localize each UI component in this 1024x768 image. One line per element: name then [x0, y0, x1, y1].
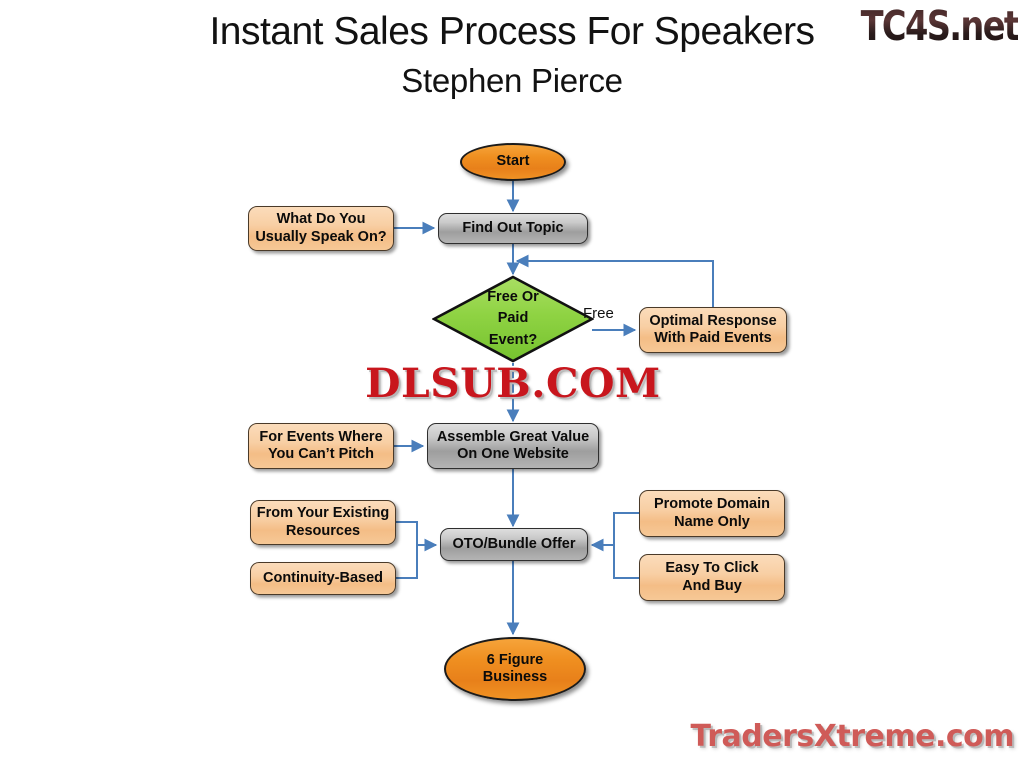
node-decision-line2: Paid — [498, 310, 529, 326]
node-promote-line2: Name Only — [674, 514, 750, 530]
node-optimal-response-with-paid-events[interactable]: Optimal Response With Paid Events — [639, 307, 787, 353]
node-free-or-paid-event[interactable]: Free Or Paid Event? — [432, 275, 594, 363]
node-what-do-you-usually-speak-on[interactable]: What Do You Usually Speak On? — [248, 206, 394, 251]
watermark-tradersxtreme: TradersXtreme.com — [691, 719, 1014, 754]
node-easy-line1: Easy To Click — [665, 560, 758, 576]
slide-canvas: Instant Sales Process For Speakers TC4S.… — [0, 0, 1024, 768]
watermark-dlsub: DLSUB.COM — [365, 360, 661, 407]
node-optimal-line2: With Paid Events — [654, 330, 772, 346]
node-easy-to-click-and-buy[interactable]: Easy To Click And Buy — [639, 554, 785, 601]
node-optimal-line1: Optimal Response — [649, 313, 776, 329]
node-start[interactable]: Start — [460, 143, 566, 181]
node-continuity-label: Continuity-Based — [251, 570, 395, 587]
page-subtitle: Stephen Pierce — [0, 62, 1024, 100]
watermark-tc4s: TC4S.net — [860, 2, 1018, 50]
node-for-events-where-you-cant-pitch[interactable]: For Events Where You Can’t Pitch — [248, 423, 394, 469]
edge-left-bracket — [396, 522, 417, 578]
node-oto-bundle-offer[interactable]: OTO/Bundle Offer — [440, 528, 588, 561]
node-find-topic-label: Find Out Topic — [439, 220, 587, 237]
node-existing-line1: From Your Existing — [257, 505, 389, 521]
node-sixfigure-line1: 6 Figure — [487, 652, 543, 668]
node-assemble-line1: Assemble Great Value — [437, 429, 589, 445]
node-sixfigure-line2: Business — [483, 669, 547, 685]
node-decision-line1: Free Or — [487, 289, 539, 305]
node-forevents-line2: You Can’t Pitch — [268, 446, 374, 462]
node-start-label: Start — [462, 153, 564, 170]
node-easy-line2: And Buy — [682, 578, 742, 594]
node-promote-line1: Promote Domain — [654, 496, 770, 512]
node-speakon-line2: Usually Speak On? — [255, 229, 386, 245]
edge-label-free: Free — [583, 305, 614, 322]
node-existing-line2: Resources — [286, 523, 360, 539]
node-oto-label: OTO/Bundle Offer — [441, 536, 587, 553]
node-speakon-line1: What Do You — [277, 211, 366, 227]
node-continuity-based[interactable]: Continuity-Based — [250, 562, 396, 595]
page-title: Instant Sales Process For Speakers — [209, 10, 814, 53]
node-from-your-existing-resources[interactable]: From Your Existing Resources — [250, 500, 396, 545]
node-find-out-topic[interactable]: Find Out Topic — [438, 213, 588, 244]
node-six-figure-business[interactable]: 6 Figure Business — [444, 637, 586, 701]
node-decision-line3: Event? — [489, 332, 537, 348]
edge-right-bracket — [614, 513, 639, 578]
node-forevents-line1: For Events Where — [259, 429, 382, 445]
node-promote-domain-name-only[interactable]: Promote Domain Name Only — [639, 490, 785, 537]
node-assemble-great-value-on-one-website[interactable]: Assemble Great Value On One Website — [427, 423, 599, 469]
node-assemble-line2: On One Website — [457, 446, 569, 462]
